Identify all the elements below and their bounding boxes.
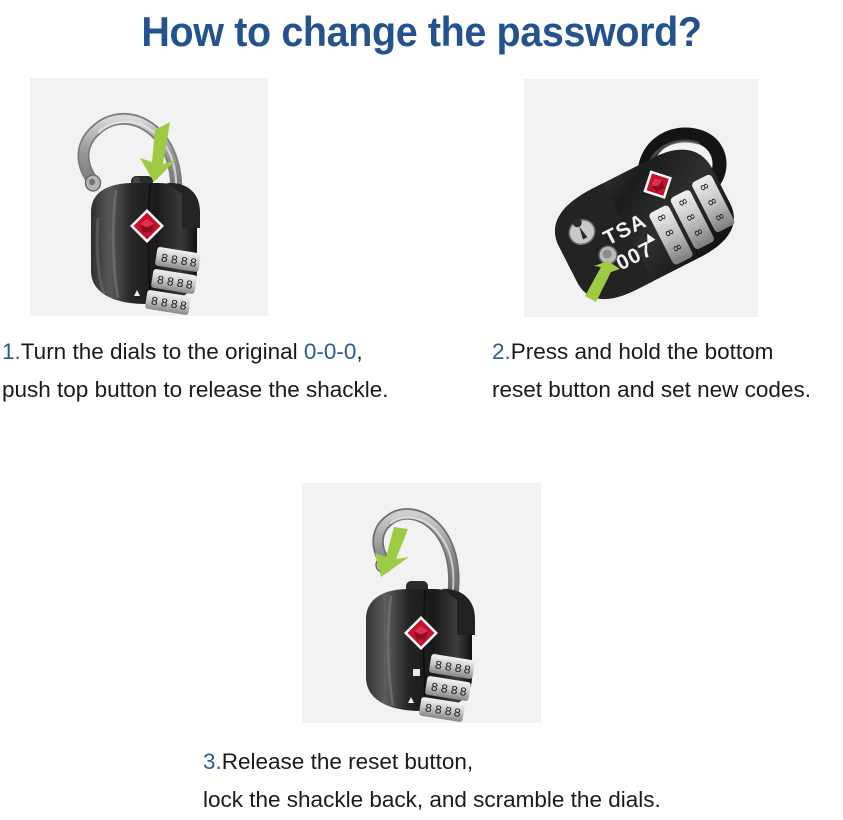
step-2-image: TSA 007 8 <box>524 79 758 317</box>
step-2-caption-line-1: 2.Press and hold the bottom <box>492 333 811 371</box>
step-1-image: 88 88 88 88 88 <box>30 78 268 316</box>
step-3-text: Release the reset button, <box>222 749 473 774</box>
step-3-caption: 3.Release the reset button, lock the sha… <box>203 743 661 819</box>
step-3-caption-line-2: lock the shackle back, and scramble the … <box>203 781 661 819</box>
step-1-caption: 1.Turn the dials to the original 0-0-0, … <box>2 333 389 409</box>
step-2-number: 2. <box>492 339 511 364</box>
step-1-caption-line-2: push top button to release the shackle. <box>2 371 389 409</box>
step-1-text-before: Turn the dials to the original <box>21 339 304 364</box>
step-3-image: 88 88 88 88 88 <box>302 483 541 723</box>
step-1-code: 0-0-0 <box>304 339 357 364</box>
step-2-text: Press and hold the bottom <box>511 339 774 364</box>
step-1-caption-line-1: 1.Turn the dials to the original 0-0-0, <box>2 333 389 371</box>
step-2-caption-line-2: reset button and set new codes. <box>492 371 811 409</box>
instruction-sheet: How to change the password? <box>0 0 843 820</box>
page-title: How to change the password? <box>25 6 817 58</box>
lock-body: 88 88 88 88 88 <box>91 176 201 315</box>
step-1-number: 1. <box>2 339 21 364</box>
step-2-caption: 2.Press and hold the bottom reset button… <box>492 333 811 409</box>
step-3-number: 3. <box>203 749 222 774</box>
step-3-caption-line-1: 3.Release the reset button, <box>203 743 661 781</box>
step-1-text-after: , <box>356 339 362 364</box>
